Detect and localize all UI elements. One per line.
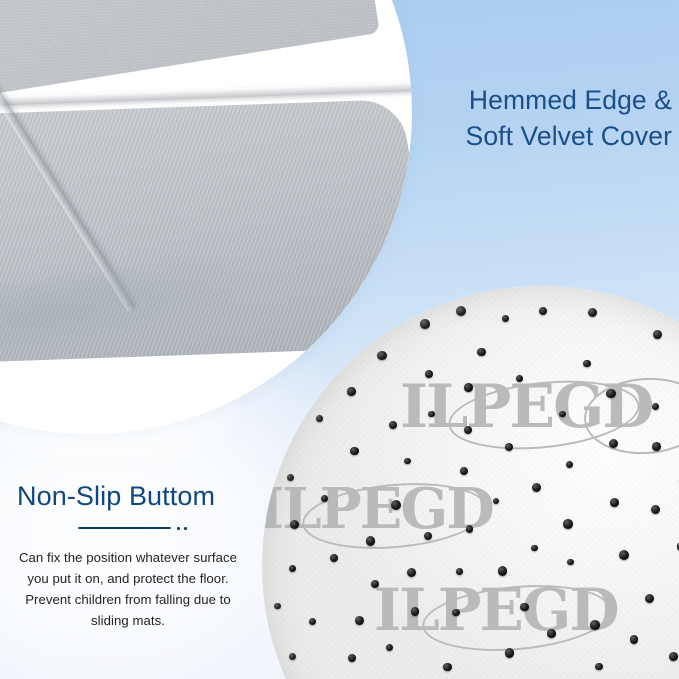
heading-divider-line (78, 527, 171, 529)
feature-body-bottom: Can fix the position whatever surface yo… (8, 547, 248, 631)
non-slip-mat-photo: ILPEGD ILPEGD ILPEGD (262, 286, 679, 679)
product-feature-image: ILPEGD ILPEGD ILPEGD Hemmed Edge & Soft … (0, 0, 679, 679)
feature-heading-top-line1: Hemmed Edge & (360, 82, 672, 118)
feature-body-line4: sliding mats. (8, 610, 248, 631)
feature-body-line2: you put it on, and protect the floor. (8, 568, 248, 589)
feature-body-line3: Prevent children from falling due to (8, 589, 248, 610)
heading-divider (78, 524, 218, 532)
feature-heading-top: Hemmed Edge & Soft Velvet Cover (360, 82, 672, 154)
feature-heading-bottom: Non-Slip Buttom (17, 479, 215, 513)
feature-body-line1: Can fix the position whatever surface (8, 547, 248, 568)
heading-divider-dot-2 (184, 527, 187, 530)
heading-divider-dot-1 (177, 527, 180, 530)
feature-heading-top-line2: Soft Velvet Cover (360, 118, 672, 154)
